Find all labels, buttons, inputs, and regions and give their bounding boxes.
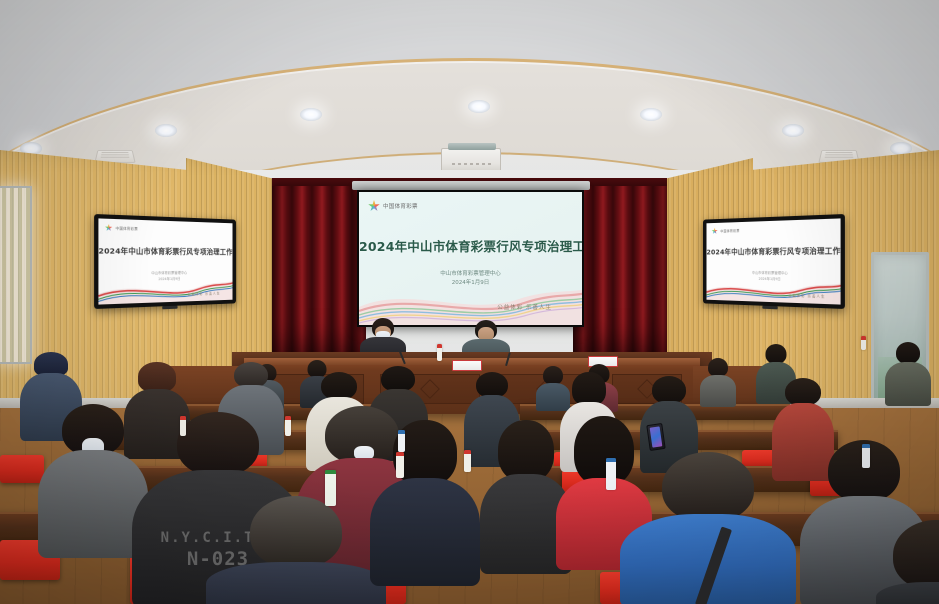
downlight [468, 100, 490, 113]
attendee [700, 358, 736, 406]
water-bottle [861, 336, 866, 350]
slide-title: 2024年中山市体育彩票行风专项治理工作培训 [706, 246, 840, 257]
name-placard-left [452, 360, 482, 371]
slide-logo: 中国体育彩票 [712, 227, 740, 235]
smartphone [646, 423, 665, 451]
sports-lottery-star-icon [105, 224, 112, 232]
water-bottle [464, 450, 471, 472]
water-bottle [180, 416, 186, 436]
water-bottle [325, 470, 336, 506]
display-stand [762, 306, 777, 310]
water-bottle [285, 416, 291, 436]
slide-logo-text: 中国体育彩票 [720, 228, 739, 233]
slide-logo-text: 中国体育彩票 [116, 225, 138, 231]
water-bottle [862, 444, 870, 468]
slide-slogan: 公益体彩 乐善人生 [497, 303, 552, 311]
projection-screen: 中国体育彩票 2024年中山市体育彩票行风专项治理工作培训 中山市体育彩票管理中… [357, 190, 584, 327]
left-display-slide: 中国体育彩票 2024年中山市体育彩票行风专项治理工作培训 中山市体育彩票管理中… [98, 218, 232, 304]
slide-title: 2024年中山市体育彩票行风专项治理工作培训 [98, 246, 232, 257]
red-curtain-left [272, 186, 366, 366]
attendee [206, 496, 386, 604]
water-bottle [396, 452, 404, 478]
attendee-female [370, 420, 480, 580]
conference-room-photo: 中国体育彩票 2024年中山市体育彩票行风专项治理工作培训 中山市体育彩票管理中… [0, 0, 939, 604]
sports-lottery-star-icon [368, 200, 380, 212]
water-bottle [606, 458, 616, 490]
right-wall-display: 中国体育彩票 2024年中山市体育彩票行风专项治理工作培训 中山市体育彩票管理中… [703, 214, 845, 309]
slide-logo: 中国体育彩票 [105, 224, 138, 232]
attendee-photographer [620, 452, 796, 604]
downlight [640, 108, 662, 121]
presentation-slide: 中国体育彩票 2024年中山市体育彩票行风专项治理工作培训 中山市体育彩票管理中… [359, 192, 582, 325]
downlight [155, 124, 177, 137]
screen-roller [352, 181, 590, 190]
sports-lottery-star-icon [712, 228, 718, 235]
downlight [300, 108, 322, 121]
slide-title: 2024年中山市体育彩票行风专项治理工作培训 [359, 236, 582, 255]
right-display-slide: 中国体育彩票 2024年中山市体育彩票行风专项治理工作培训 中山市体育彩票管理中… [706, 218, 840, 304]
downlight [890, 142, 912, 155]
water-bottle [437, 344, 442, 361]
left-wall-display: 中国体育彩票 2024年中山市体育彩票行风专项治理工作培训 中山市体育彩票管理中… [94, 214, 236, 309]
water-bottle [398, 430, 405, 452]
attendee [885, 342, 931, 404]
slide-logo: 中国体育彩票 [368, 200, 418, 212]
downlight [782, 124, 804, 137]
left-window [0, 186, 32, 364]
red-curtain-right [573, 186, 667, 366]
slide-logo-text: 中国体育彩票 [383, 202, 418, 210]
slide-wave-graphic [706, 275, 840, 304]
attendee [876, 520, 939, 604]
